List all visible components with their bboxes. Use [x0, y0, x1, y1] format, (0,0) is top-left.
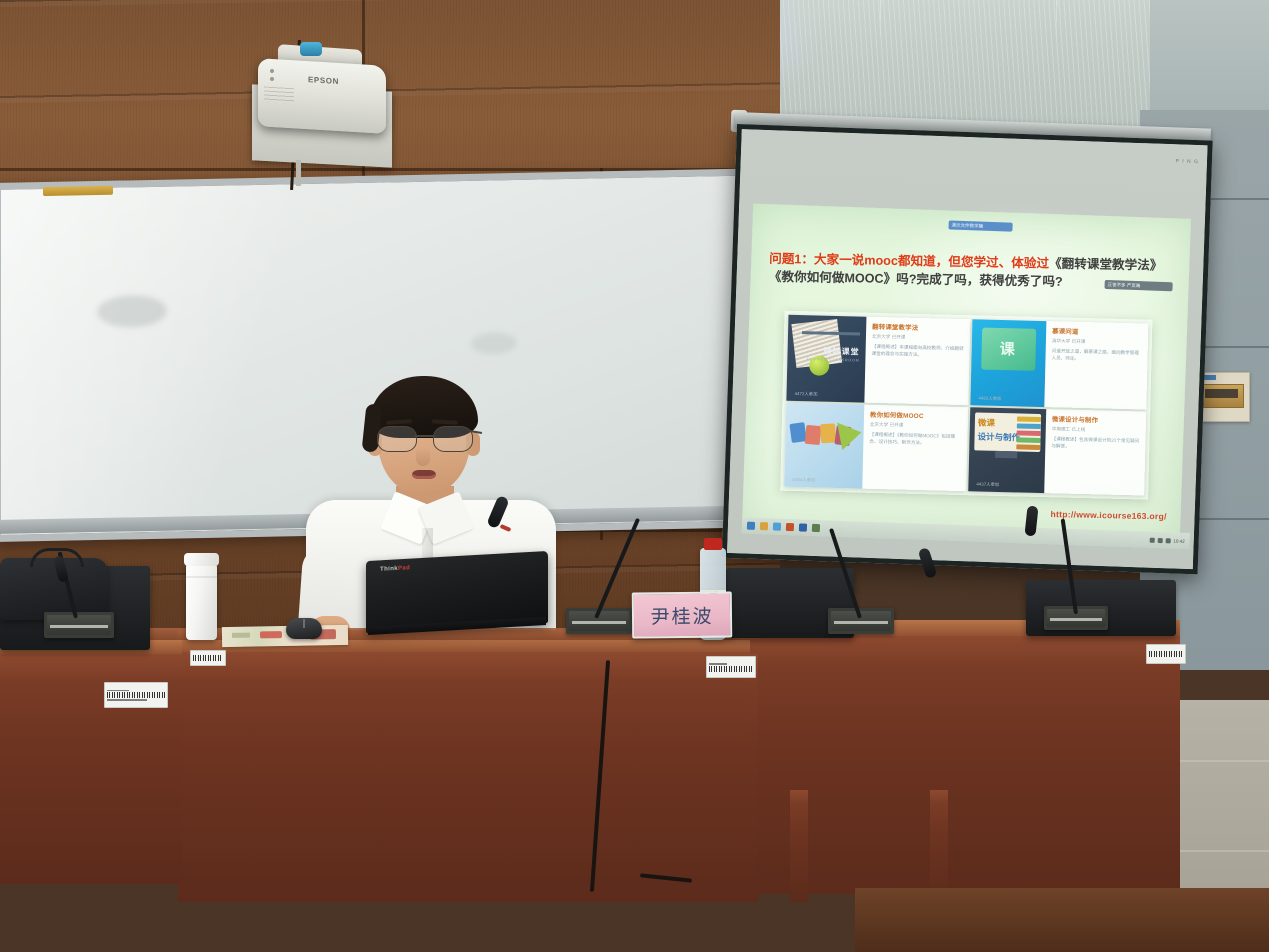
ppt-icon[interactable]: [786, 523, 794, 531]
letter-card-icon: [805, 425, 822, 445]
course-thumbnail-flipped-icon: 翻转课堂 FLIPPED CLASSROOM: [786, 315, 866, 403]
gooseneck-mic-right-a[interactable]: [828, 612, 898, 636]
projector-brand-label: EPSON: [308, 75, 339, 86]
nose: [416, 448, 430, 466]
asset-tag: [104, 682, 168, 708]
upper-right-wall: [1150, 0, 1269, 120]
course-thumbnail-video-icon: 课: [970, 319, 1046, 407]
slide-title: 问题1：大家一说mooc都知道，但您学过、体验过《翻转课堂教学法》《教你如何做M…: [769, 250, 1176, 294]
volume-icon[interactable]: [1157, 537, 1162, 542]
arrow-icon: [837, 419, 864, 451]
course-thumbnail-mooc-icon: [784, 403, 864, 489]
glasses-bridge: [415, 435, 435, 437]
whiteboard-clip: [43, 186, 113, 196]
gooseneck-mic-left[interactable]: [44, 614, 110, 636]
letter-card-icon: [820, 423, 836, 443]
course-meta: 教你如何做MOOC 北京大学 已开课 【课程概述】《教你如何做MOOC》包括理念…: [862, 405, 968, 492]
network-icon[interactable]: [1149, 537, 1154, 542]
laptop[interactable]: ThinkPad: [366, 556, 548, 634]
lecture-room-photo: EPSON P I N G 演示文件教学播 正答不多 产页端 问题1：大家一说m…: [0, 0, 1269, 952]
course-card[interactable]: 微课 设计与制作 微课设计与制作 华南理工 已: [968, 407, 1146, 495]
course-card[interactable]: 课 慕课问道 清华大学 已开课 问道开放之道，解慕课之惑，面向教学管理人员、师生…: [970, 319, 1148, 409]
course-meta: 翻转课堂教学法 北京大学 已开课 【课程概述】本课程面向高校教师，介绍翻转课堂的…: [864, 317, 970, 406]
floor-shadow-strip: [855, 888, 1269, 952]
monitor-stand-icon: [995, 451, 1017, 459]
name-plate-text: 尹桂波: [650, 601, 713, 629]
course-card-grid: 翻转课堂 FLIPPED CLASSROOM 翻转课堂教学法 北京大学 已开课 …: [780, 311, 1152, 500]
asset-tag: [190, 650, 226, 666]
computer-mouse[interactable]: [286, 618, 322, 639]
slide-title-highlight: 大家一说mooc都知道，但您学过、体验过: [814, 253, 1049, 271]
thermos-lid[interactable]: [184, 553, 219, 566]
glasses-lens: [433, 426, 473, 452]
podium-desk-front: [178, 652, 754, 902]
projector-indicator-icon: [270, 69, 274, 73]
slide-url-text: http://www.icourse163.org/: [1050, 509, 1166, 521]
projector: EPSON: [258, 58, 386, 134]
name-plate: 尹桂波: [632, 591, 732, 638]
laptop-bag[interactable]: [0, 558, 108, 620]
printed-booklet[interactable]: [222, 625, 348, 647]
word-icon[interactable]: [799, 523, 807, 531]
course-description: 【课程概述】本课程面向高校教师，介绍翻转课堂的理念与实施方法。: [871, 344, 964, 360]
barcode-icon: [107, 692, 165, 698]
glasses-icon: [376, 426, 474, 450]
course-subtitle: 华南理工 已上线: [1052, 426, 1141, 434]
right-desk-front: [750, 636, 1180, 894]
thermos-band: [186, 576, 217, 578]
slide-chip-label: 演示文件教学播: [951, 222, 983, 229]
color-legend-icon: [1016, 416, 1041, 452]
course-meta: 微课设计与制作 华南理工 已上线 【课程概述】包含微课设计的21个常见疑问与解答…: [1044, 409, 1146, 495]
browser-icon[interactable]: [773, 523, 781, 531]
glasses-lens: [377, 426, 417, 452]
barcode-icon: [193, 655, 223, 661]
course-title: 翻转课堂教学法: [872, 322, 965, 333]
booklet-graphic: [232, 633, 250, 638]
course-meta: 慕课问道 清华大学 已开课 问道开放之道，解慕课之惑，面向教学管理人员、师生。 …: [1044, 321, 1148, 409]
barcode-icon: [709, 666, 753, 672]
projector-indicator-icon: [270, 77, 274, 81]
box-slot: [1205, 389, 1238, 398]
course-title: 慕课问道: [1052, 326, 1143, 337]
folder-icon[interactable]: [760, 522, 768, 530]
course-card[interactable]: 教你如何做MOOC 北京大学 已开课 【课程概述】《教你如何做MOOC》包括理念…: [784, 403, 968, 491]
projection-screen[interactable]: P I N G 演示文件教学播 正答不多 产页端 问题1：大家一说mooc都知道…: [722, 124, 1213, 574]
course-thumbnail-microlecture-icon: 微课 设计与制作: [968, 407, 1046, 493]
course-title: 微课设计与制作: [1052, 414, 1141, 425]
thumb-title-2: 设计与制作: [977, 430, 1020, 443]
slide-title-prefix: 问题1：: [769, 252, 814, 267]
thumb-title-zh: 翻转课堂: [823, 346, 859, 358]
desk-leg: [930, 790, 948, 902]
media-icon[interactable]: [812, 524, 820, 532]
gooseneck-mic-center[interactable]: [566, 612, 636, 636]
booklet-graphic: [260, 631, 282, 638]
thumb-title-zh: 课: [999, 338, 1015, 359]
course-description: 【课程概述】包含微课设计的21个常见疑问与解答。: [1051, 436, 1140, 452]
taskbar-clock[interactable]: 10:42: [1173, 538, 1184, 543]
projected-slide: 演示文件教学播 正答不多 产页端 问题1：大家一说mooc都知道，但您学过、体验…: [742, 204, 1191, 549]
mouse-button-split: [303, 619, 305, 628]
start-icon[interactable]: [747, 522, 755, 530]
course-subtitle: 北京大学 已开课: [870, 422, 963, 430]
system-tray[interactable]: 10:42: [1149, 537, 1184, 543]
projector-pole: [296, 160, 301, 186]
mouth: [412, 470, 436, 479]
course-title: 教你如何做MOOC: [870, 410, 963, 421]
desk-leg: [744, 654, 758, 902]
thumb-title-1: 微课: [978, 416, 995, 428]
gooseneck-mic-right-b[interactable]: [1044, 610, 1110, 632]
bottle-cap[interactable]: [704, 538, 722, 550]
course-subtitle: 清华大学 已开课: [1052, 338, 1143, 346]
screen-brand-tag: P I N G: [1176, 158, 1200, 165]
battery-icon[interactable]: [1165, 538, 1170, 543]
projector-vent: [264, 86, 294, 104]
course-description: 【课程概述】《教你如何做MOOC》包括理念、设计技巧、制作方法。: [869, 432, 962, 448]
course-card[interactable]: 翻转课堂 FLIPPED CLASSROOM 翻转课堂教学法 北京大学 已开课 …: [786, 315, 970, 405]
course-subtitle: 北京大学 已开课: [872, 334, 965, 342]
desk-leg: [790, 790, 808, 902]
barcode-icon: [1149, 651, 1183, 657]
course-description: 问道开放之道，解慕课之惑，面向教学管理人员、师生。: [1051, 348, 1142, 364]
projector-lens: [300, 42, 322, 56]
asset-tag: [706, 656, 756, 678]
thermos-bottle[interactable]: [186, 562, 217, 640]
asset-tag: [1146, 644, 1186, 664]
